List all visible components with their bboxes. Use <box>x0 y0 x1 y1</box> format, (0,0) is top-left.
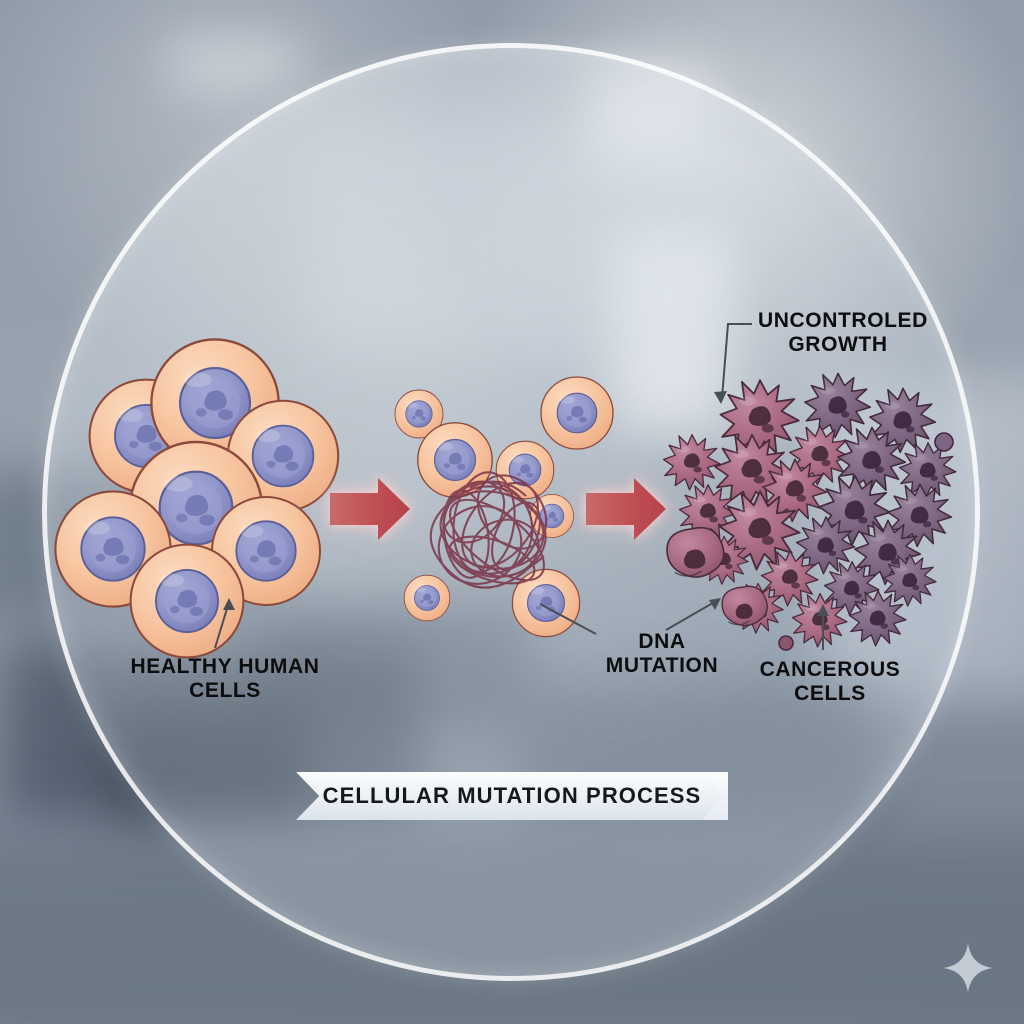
label-uncontroled-growth: UNCONTROLED GROWTH <box>758 309 918 358</box>
banner-title-text: CELLULAR MUTATION PROCESS <box>323 783 702 809</box>
stage-healthy-cells <box>55 339 338 657</box>
arrow-healthy-to-mutation <box>330 478 410 540</box>
cell-diagram-svg <box>0 0 1024 1024</box>
label-healthy-human-cells: HEALTHY HUMAN CELLS <box>130 655 320 704</box>
stage-dna-mutation <box>395 377 613 637</box>
figure-canvas: HEALTHY HUMAN CELLS DNA MUTATION CANCERO… <box>0 0 1024 1024</box>
sparkle-icon <box>940 940 996 996</box>
arrow-mutation-to-cancer <box>586 478 666 540</box>
label-dna-mutation: DNA MUTATION <box>604 630 720 679</box>
stage-cancerous-cells <box>663 373 955 650</box>
title-banner: CELLULAR MUTATION PROCESS <box>296 772 728 820</box>
label-cancerous-cells: CANCEROUS CELLS <box>754 658 906 707</box>
